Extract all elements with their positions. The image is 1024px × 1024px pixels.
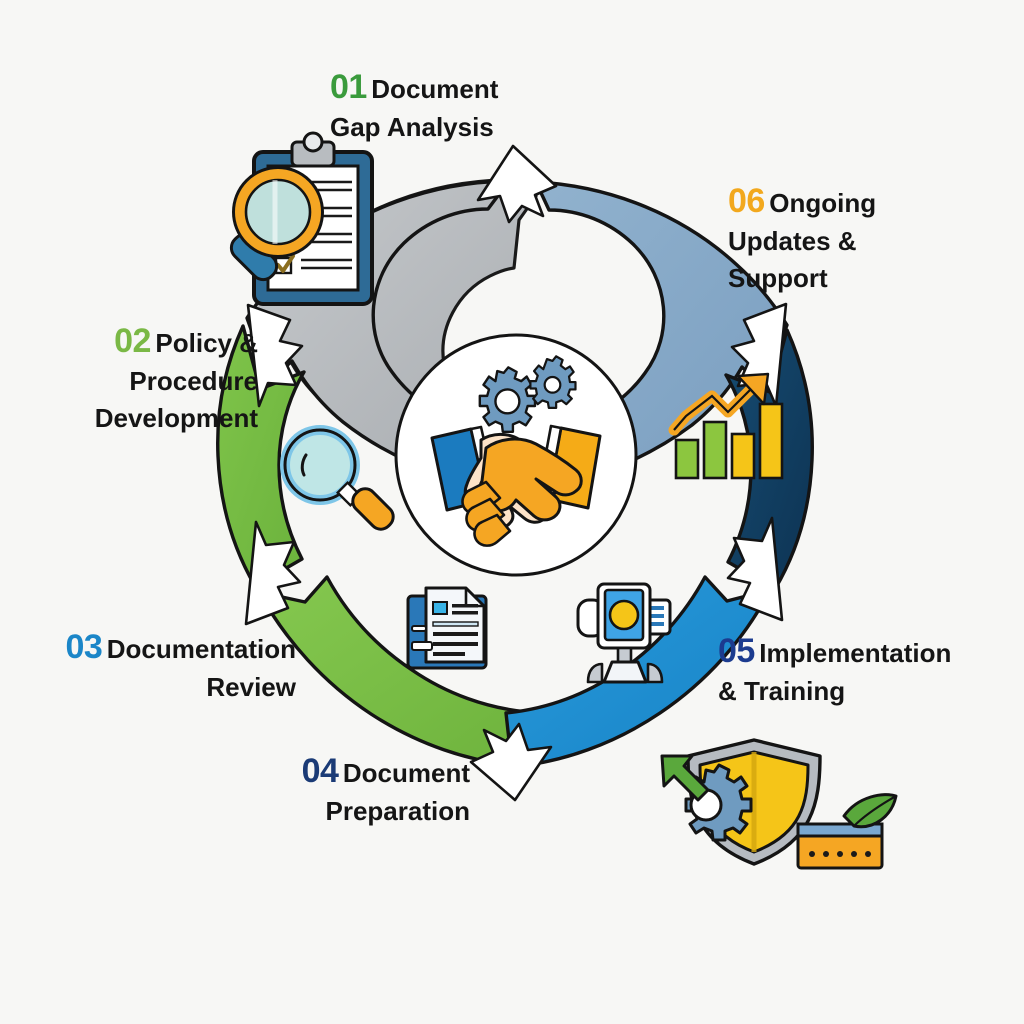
infographic-canvas: 01 Document Gap Analysis 06 Ongoing Upda…: [0, 0, 1024, 1024]
step-label-06[interactable]: 06 Ongoing Updates & Support: [728, 182, 1018, 298]
step-number-04: 04: [302, 752, 339, 790]
step-title-03-line2: Review: [0, 669, 296, 707]
step-title-05-line2: & Training: [718, 673, 1018, 711]
step-title-04-line1: Document: [343, 758, 470, 788]
step-title-02-line3: Development: [8, 400, 258, 438]
step-title-02-line1: Policy &: [155, 328, 258, 358]
step-number-06: 06: [728, 182, 765, 220]
step-title-05-line1: Implementation: [759, 638, 951, 668]
step-label-03[interactable]: 03 Documentation Review: [0, 628, 296, 706]
step-number-05: 05: [718, 632, 755, 670]
step-label-01[interactable]: 01 Document Gap Analysis: [330, 68, 630, 146]
step-title-04-line2: Preparation: [150, 793, 470, 831]
step-number-01: 01: [330, 68, 367, 106]
step-label-05[interactable]: 05 Implementation & Training: [718, 632, 1018, 710]
step-number-03: 03: [65, 628, 102, 666]
step-title-06-line3: Support: [728, 260, 1018, 298]
step-label-04[interactable]: 04 Document Preparation: [150, 752, 470, 830]
step-label-02[interactable]: 02 Policy & Procedure Development: [8, 322, 258, 438]
step-number-02: 02: [114, 322, 151, 360]
step-title-02-line2: Procedure: [8, 363, 258, 401]
step-title-01-line2: Gap Analysis: [330, 109, 630, 147]
step-title-06-line1: Ongoing: [769, 188, 876, 218]
step-title-01-line1: Document: [371, 74, 498, 104]
step-title-06-line2: Updates &: [728, 223, 1018, 261]
step-title-03-line1: Documentation: [107, 634, 296, 664]
shield-gear-card-icon: [0, 0, 1024, 1024]
